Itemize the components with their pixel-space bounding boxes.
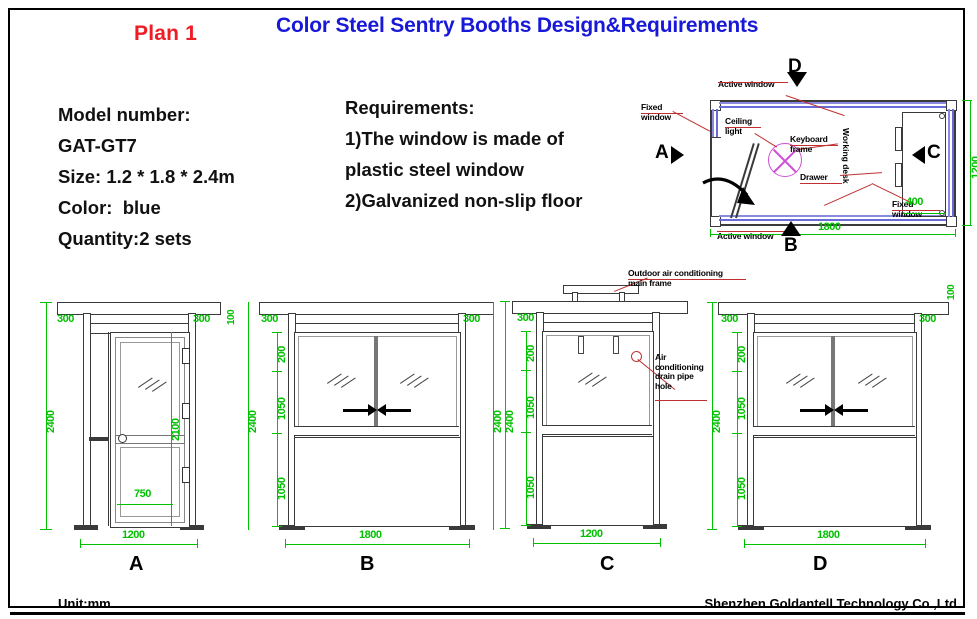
- elevation-B: 300 300 200 1050 1050 2400 1800 B: [255, 285, 500, 580]
- plan-label-drawer: Drawer: [800, 173, 828, 183]
- elev-d-dim-height-tick-t: [707, 302, 717, 303]
- plan-dim-desk-depth: 400: [906, 196, 923, 208]
- elev-b-slide-arrow-left: [385, 409, 411, 412]
- elev-d-dim-overhang-right: 300: [919, 313, 936, 325]
- elev-c-dim-height: 2400: [504, 411, 516, 433]
- elev-d-dim-roof-thickness: 100: [946, 285, 957, 300]
- elev-a-foot-left: [74, 525, 98, 530]
- elev-a-wall-rail: [89, 437, 109, 441]
- elev-c-dim-tick-1: [521, 331, 531, 332]
- elev-a-dim-door-width-line: [117, 504, 173, 505]
- elev-a-dim-door-width: 750: [134, 488, 151, 500]
- view-arrow-C: [912, 146, 925, 164]
- elev-c-dim-width-line: [533, 543, 661, 544]
- elev-c-dim-height-tick-b: [500, 528, 510, 529]
- elevation-label-B: B: [360, 553, 374, 576]
- underline-keyboard-frame: [790, 145, 838, 146]
- elev-a-dim-roof-thickness: 100: [226, 310, 237, 325]
- elevation-D: 300 300 100 2400 200 1050 1050 1800 D: [700, 280, 962, 580]
- elev-c-bracket-left: [578, 336, 584, 354]
- elev-d-dim-tick-4: [732, 526, 742, 527]
- elev-a-dim-height-tick-b: [40, 529, 52, 530]
- view-arrow-A: [671, 146, 684, 164]
- elev-c-dim-overhang-left: 300: [517, 312, 534, 324]
- requirements-block: Requirements: 1)The window is made of pl…: [345, 92, 582, 216]
- leader-active-window-bottom: [824, 184, 872, 206]
- drawing-canvas: Plan 1 Color Steel Sentry Booths Design&…: [0, 0, 977, 619]
- elev-c-dim-width-tick-r: [660, 538, 661, 547]
- underline-active-window-bottom: [717, 231, 787, 232]
- plan-dim-desk-line: [903, 213, 946, 214]
- page-title: Color Steel Sentry Booths Design&Require…: [276, 14, 758, 38]
- company-name: Shenzhen Goldantell Technology Co.,Ltd: [704, 596, 957, 611]
- plan-fixed-window-left-end: [710, 137, 721, 138]
- plan-keyboard-frame: [895, 127, 902, 151]
- plan-fixed-window-right-2: [952, 109, 954, 217]
- elev-c-sill: [542, 425, 652, 435]
- spec-block: Model number: GAT-GT7 Size: 1.2 * 1.8 * …: [58, 99, 235, 254]
- elev-c-bracket-right: [613, 336, 619, 354]
- elev-c-glass-hatch: [578, 368, 610, 386]
- view-arrow-D: [787, 72, 807, 87]
- view-key-C-label: C: [927, 142, 941, 164]
- plan-active-window-top-2: [719, 106, 946, 108]
- plan-fixed-window-left: [712, 109, 714, 137]
- requirement-item: plastic steel window: [345, 154, 582, 185]
- elev-b-lower-panel: [294, 437, 461, 527]
- elev-b-slide-arrow-right-head: [368, 404, 377, 416]
- elev-d-dim-panel-height: 1050: [736, 478, 748, 500]
- plan-wall-right: [954, 100, 956, 226]
- plan-dim-width-tick-r: [955, 229, 956, 237]
- elev-d-dim-width-tick-l: [744, 539, 745, 548]
- elev-d-dim-tick-3: [732, 433, 742, 434]
- elev-a-post-left: [83, 313, 91, 528]
- spec-model-value: GAT-GT7: [58, 130, 235, 161]
- plan-dim-depth-tick-t: [962, 100, 972, 101]
- plan-fixed-window-right: [948, 109, 950, 217]
- elev-b-dim-width-line: [285, 544, 470, 545]
- elev-d-glass-hatch-right: [858, 369, 890, 387]
- plan-dim-depth: 1200: [970, 157, 977, 179]
- plan-desk-corner-mark: [939, 113, 945, 119]
- elev-b-dim-band-top: 200: [276, 346, 288, 363]
- elev-c-dim-width: 1200: [580, 528, 602, 540]
- view-key-B-label: B: [784, 235, 798, 257]
- elev-a-dim-width: 1200: [122, 529, 144, 541]
- plan-dim-depth-tick-b: [962, 225, 972, 226]
- elev-b-slide-arrow-right: [343, 409, 369, 412]
- spec-model-label: Model number:: [58, 99, 235, 130]
- elev-c-dim-tick-4: [521, 525, 531, 526]
- requirement-item: 1)The window is made of: [345, 123, 582, 154]
- elev-b-dim-width-tick-l: [285, 539, 286, 548]
- elev-d-dim-width: 1800: [817, 529, 839, 541]
- elev-a-dim-width-line: [80, 544, 198, 545]
- view-arrow-B: [781, 221, 801, 236]
- elev-d-lower-panel: [753, 437, 917, 527]
- elev-b-dim-tick-3: [272, 433, 282, 434]
- plan-badge: Plan 1: [134, 22, 197, 46]
- elev-a-dim-height: 2400: [45, 411, 57, 433]
- elev-b-dim-tick-4: [272, 526, 282, 527]
- underline-active-window-top: [718, 82, 788, 83]
- elev-a-dim-width-tick-r: [197, 539, 198, 548]
- elev-d-dim-width-line: [744, 544, 926, 545]
- underline-drawer: [800, 183, 842, 184]
- spec-color: Color: blue: [58, 192, 235, 223]
- elev-d-dim-band-top: 200: [736, 346, 748, 363]
- elev-a-hinge: [182, 348, 190, 364]
- elev-a-hinge: [182, 467, 190, 483]
- elev-c-dim-tick-2: [521, 370, 531, 371]
- elev-b-glass-hatch-left: [327, 369, 359, 387]
- unit-note: Unit:mm: [58, 596, 111, 611]
- elev-a-dim-overhang-left: 300: [57, 313, 74, 325]
- elev-d-glass-hatch-left: [786, 369, 818, 387]
- elev-d-slide-arrow-right-head: [825, 404, 834, 416]
- elev-a-glass-hatch: [138, 373, 170, 391]
- requirements-heading: Requirements:: [345, 92, 582, 123]
- underline-fixed-window-right: [892, 210, 940, 211]
- elev-d-dim-height-tick-b: [707, 529, 717, 530]
- plan-active-window-top: [719, 102, 946, 104]
- plan-drawer: [895, 163, 902, 187]
- elev-d-sill: [753, 426, 915, 436]
- plan-corner-post: [946, 216, 957, 227]
- elev-a-dim-width-tick-l: [80, 539, 81, 548]
- elev-b-dim-overhang-right: 300: [463, 313, 480, 325]
- elev-a-hinge: [182, 403, 190, 419]
- elev-b-dim-overhang-left: 300: [261, 313, 278, 325]
- elev-c-dim-height-tick-t: [500, 301, 510, 302]
- elev-d-slide-arrow-left: [842, 409, 868, 412]
- elev-c-dim-panel-height: 1050: [525, 477, 537, 499]
- elevation-label-A: A: [129, 553, 143, 576]
- elev-b-dim-tick-1: [272, 332, 282, 333]
- elev-c-dim-width-tick-l: [533, 538, 534, 547]
- elev-d-dim-overhang-left: 300: [721, 313, 738, 325]
- elevation-A: 2400 2400 300 300 100 2100 750 1200 A: [30, 285, 260, 580]
- plan-door-swing-arrow: [695, 165, 765, 225]
- plan-desk-edge-right: [945, 112, 946, 217]
- elev-b-dim-tick-2: [272, 371, 282, 372]
- plan-dim-width: 1800: [818, 221, 840, 233]
- elev-b-dim-window-height: 1050: [276, 398, 288, 420]
- elev-a-dim-height-tick-t: [40, 302, 52, 303]
- leader-fixed-window-left: [673, 111, 711, 132]
- footer-divider: [10, 612, 965, 615]
- elevation-label-D: D: [813, 553, 827, 576]
- elev-a-dim-door-height: 2100: [170, 419, 182, 441]
- elev-d-slide-arrow-left-head: [834, 404, 843, 416]
- elev-a-dim-overhang-right: 300: [193, 313, 210, 325]
- elev-c-dim-tick-3: [521, 432, 531, 433]
- elev-d-slide-arrow-right: [800, 409, 826, 412]
- elev-c-lower-panel: [542, 436, 654, 526]
- elev-c-dim-window-height: 1050: [525, 397, 537, 419]
- elev-c-dim-band-top: 200: [525, 345, 537, 362]
- plan-dim-width-line: [710, 234, 956, 235]
- note-drain-hole: Air conditioning drain pipe hole: [655, 353, 704, 391]
- elev-b-dim-panel-height: 1050: [276, 478, 288, 500]
- underline-fixed-window-left: [641, 113, 683, 114]
- spec-size: Size: 1.2 * 1.8 * 2.4m: [58, 161, 235, 192]
- elev-b-slide-arrow-left-head: [377, 404, 386, 416]
- plan-fixed-window-left-2: [716, 109, 718, 137]
- elev-d-dim-tick-2: [732, 371, 742, 372]
- view-key-A-label: A: [655, 142, 669, 164]
- elev-b-sill: [294, 426, 459, 436]
- elev-d-dim-window-height: 1050: [736, 398, 748, 420]
- elev-a-door-lock: [118, 434, 127, 443]
- spec-quantity: Quantity:2 sets: [58, 223, 235, 254]
- elevation-label-C: C: [600, 553, 614, 576]
- requirement-item: 2)Galvanized non-slip floor: [345, 185, 582, 216]
- plan-dim-width-tick-l: [710, 229, 711, 237]
- elev-d-dim-width-tick-r: [925, 539, 926, 548]
- underline-ceiling-light: [725, 127, 761, 128]
- elev-d-dim-height: 2400: [711, 411, 723, 433]
- elev-d-dim-tick-1: [732, 332, 742, 333]
- elev-b-dim-width-tick-r: [469, 539, 470, 548]
- elev-b-dim-width: 1800: [359, 529, 381, 541]
- elev-b-glass-hatch-right: [400, 369, 432, 387]
